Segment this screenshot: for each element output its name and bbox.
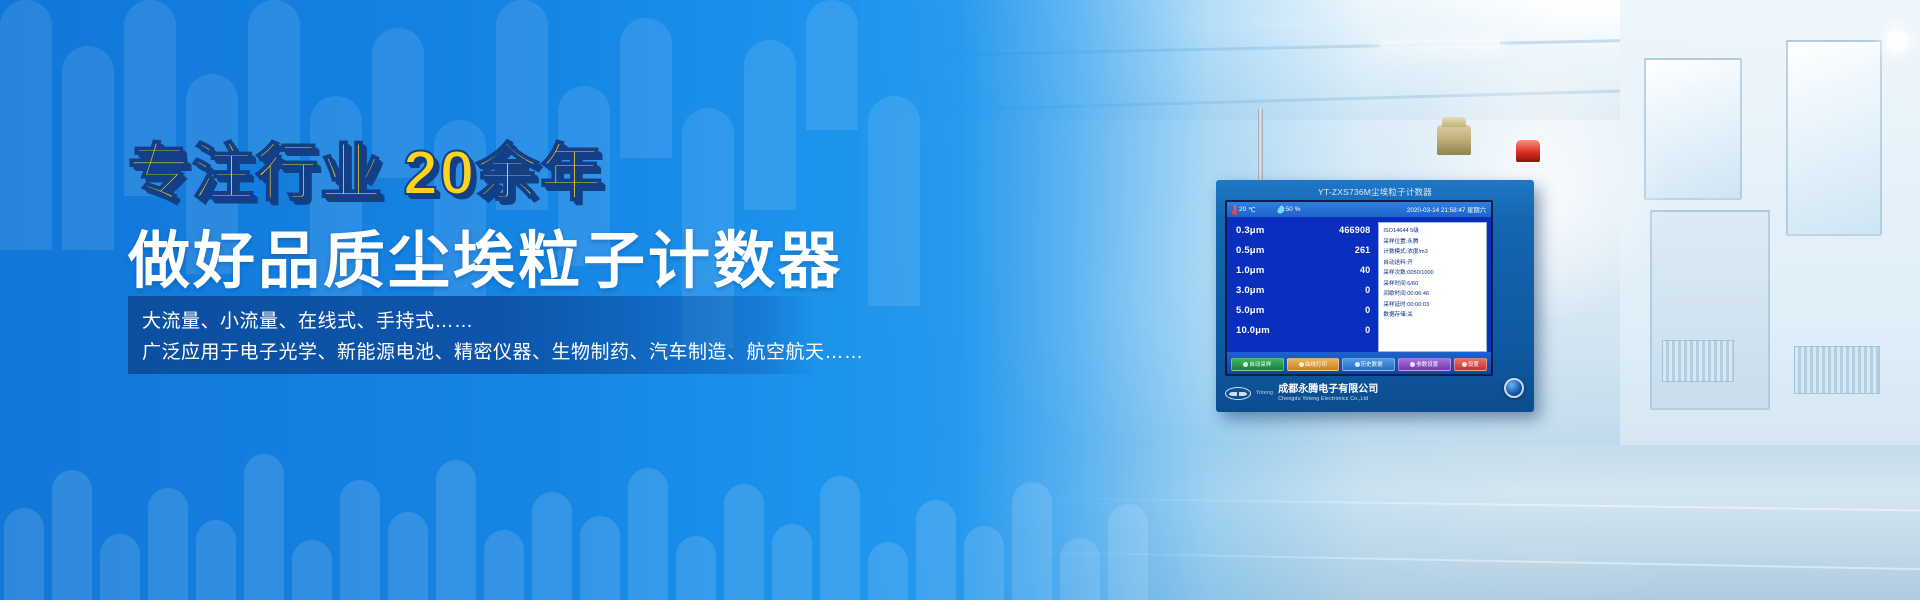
particle-size: 0.3μm (1236, 225, 1264, 236)
particle-count: 0 (1365, 285, 1370, 295)
auto-sample-icon (1243, 362, 1248, 367)
curve-print-icon (1299, 362, 1304, 367)
history-data-icon (1355, 362, 1360, 367)
table-row: 3.0μm 0 (1236, 285, 1378, 305)
parameter-item: 计数模式:浓度/m3 (1383, 247, 1486, 258)
parameter-item: 间歇时间:00:06:46 (1383, 289, 1486, 300)
particle-size: 5.0μm (1236, 305, 1264, 316)
subtitle-line-2: 广泛应用于电子光学、新能源电池、精密仪器、生物制药、汽车制造、航空航天…… (142, 337, 818, 368)
button-auto-sample[interactable]: 自动采样 (1231, 358, 1284, 371)
button-label: 自动采样 (1249, 360, 1271, 368)
headline-primary: 专注行业 20余年 (128, 122, 604, 212)
particle-size: 3.0μm (1236, 285, 1264, 296)
table-row: 0.3μm 466908 (1236, 225, 1378, 245)
particle-size: 0.5μm (1236, 245, 1264, 256)
particle-count: 40 (1360, 265, 1370, 275)
subtitle-band: 大流量、小流量、在线式、手持式…… 广泛应用于电子光学、新能源电池、精密仪器、生… (128, 296, 818, 374)
device-screen[interactable]: 20 ℃ 50 % 2020-03-14 21:58:47 星期六 0.3μm (1225, 200, 1493, 376)
particle-count: 0 (1365, 325, 1370, 335)
button-settings[interactable]: 设置 (1454, 358, 1487, 371)
button-parameter-setting[interactable]: 参数设置 (1398, 358, 1451, 371)
parameter-item: ISO14644 5级 (1383, 226, 1486, 237)
button-label: 历史数据 (1361, 360, 1383, 368)
particle-size: 1.0μm (1236, 265, 1264, 276)
button-history-data[interactable]: 历史数据 (1342, 358, 1395, 371)
sampling-port-cap (1437, 125, 1471, 155)
button-label: 曲线打印 (1305, 360, 1327, 368)
table-row: 5.0μm 0 (1236, 305, 1378, 325)
datetime-display: 2020-03-14 21:58:47 星期六 (1407, 205, 1486, 214)
water-drop-icon (1276, 205, 1286, 215)
thermometer-icon (1232, 205, 1237, 215)
parameter-setting-icon (1410, 362, 1415, 367)
particle-count: 466908 (1339, 225, 1370, 235)
button-label: 设置 (1468, 360, 1479, 368)
screen-status-bar: 20 ℃ 50 % 2020-03-14 21:58:47 星期六 (1227, 202, 1491, 218)
humidity-group: 50 % (1278, 206, 1301, 214)
power-knob[interactable] (1504, 378, 1524, 398)
screen-body: 0.3μm 466908 0.5μm 261 1.0μm 40 3.0μm (1227, 218, 1491, 352)
parameter-panel: ISO14644 5级 采样位置:永腾 计数模式:浓度/m3 自动送料:开 采样… (1378, 222, 1487, 352)
table-row: 10.0μm 0 (1236, 325, 1378, 345)
button-label: 参数设置 (1416, 360, 1438, 368)
particle-count: 261 (1355, 245, 1371, 255)
humidity-unit: % (1295, 206, 1301, 213)
parameter-item: 数据存储:关 (1383, 310, 1486, 321)
button-curve-print[interactable]: 曲线打印 (1287, 358, 1340, 371)
temperature-value: 20 (1239, 206, 1246, 213)
parameter-item: 采样次数:0050/1000 (1383, 268, 1486, 279)
parameter-item: 采样位置:永腾 (1383, 237, 1486, 248)
antenna (1258, 108, 1263, 180)
subtitle-line-1: 大流量、小流量、在线式、手持式…… (142, 306, 818, 337)
temperature-group: 20 ℃ (1232, 205, 1256, 215)
promo-banner: 专注行业 20余年 做好品质尘埃粒子计数器 大流量、小流量、在线式、手持式…… … (0, 0, 1920, 600)
status-beacon-light (1516, 140, 1540, 162)
particle-counter-device: YT-ZXS736M尘埃粒子计数器 20 ℃ 50 % (1216, 180, 1534, 412)
parameter-item: 采样时间:6/60 (1383, 279, 1486, 290)
temperature-unit: ℃ (1248, 206, 1255, 214)
particle-table: 0.3μm 466908 0.5μm 261 1.0μm 40 3.0μm (1227, 218, 1378, 352)
table-row: 1.0μm 40 (1236, 265, 1378, 285)
particle-size: 10.0μm (1236, 325, 1270, 336)
humidity-value: 50 (1286, 206, 1293, 213)
brand-name-en: Chengdu Yoteng Electronics Co.,Ltd (1278, 396, 1378, 403)
parameter-item: 采样延时:00:00:03 (1383, 300, 1486, 311)
table-row: 0.5μm 261 (1236, 245, 1378, 265)
device-body: YT-ZXS736M尘埃粒子计数器 20 ℃ 50 % (1216, 180, 1534, 412)
brand-bar: Yoteng 成都永腾电子有限公司 Chengdu Yoteng Electro… (1225, 380, 1493, 406)
yoteng-logo-icon (1225, 387, 1251, 400)
brand-text: 成都永腾电子有限公司 Chengdu Yoteng Electronics Co… (1278, 384, 1378, 403)
device-model-label: YT-ZXS736M尘埃粒子计数器 (1216, 186, 1534, 198)
screen-button-bar: 自动采样 曲线打印 历史数据 参数设置 (1227, 352, 1491, 376)
brand-name-cn: 成都永腾电子有限公司 (1278, 384, 1378, 397)
headline-secondary: 做好品质尘埃粒子计数器 (128, 210, 843, 300)
parameter-item: 自动送料:开 (1383, 258, 1486, 269)
headline-block: 专注行业 20余年 做好品质尘埃粒子计数器 大流量、小流量、在线式、手持式…… … (0, 0, 900, 600)
brand-mark: Yoteng (1256, 390, 1273, 396)
particle-count: 0 (1365, 305, 1370, 315)
gear-icon (1462, 362, 1467, 367)
